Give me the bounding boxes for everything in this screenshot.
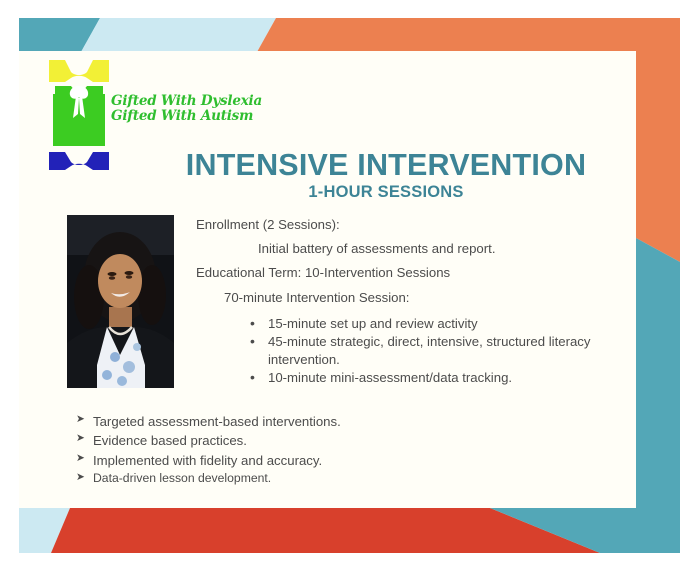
logo-line-2: Gifted With Autism — [111, 109, 261, 124]
detail-line-enrollment: Enrollment (2 Sessions): — [196, 218, 606, 231]
logo-wordmark: Gifted With Dyslexia Gifted With Autism — [111, 94, 261, 123]
page-subtitle: 1-HOUR SESSIONS — [176, 183, 596, 202]
page-title: INTENSIVE INTERVENTION — [176, 148, 596, 183]
slide: Gifted With Dyslexia Gifted With Autism … — [0, 0, 698, 571]
list-item: Evidence based practices. — [76, 431, 341, 450]
detail-line-initial-battery: Initial battery of assessments and repor… — [196, 242, 606, 255]
presenter-photo — [67, 215, 174, 388]
gift-box-icon — [43, 56, 115, 174]
features-list: Targeted assessment-based interventions.… — [76, 412, 341, 488]
presenter-photo-image — [67, 215, 174, 388]
list-item: 15-minute set up and review activity — [248, 315, 606, 332]
list-item: 10-minute mini-assessment/data tracking. — [248, 369, 606, 386]
frame-right-orange-shape — [636, 18, 680, 262]
list-item: Data-driven lesson development. — [76, 470, 341, 488]
list-item: Implemented with fidelity and accuracy. — [76, 451, 341, 470]
detail-line-educational-term: Educational Term: 10-Intervention Sessio… — [196, 266, 606, 279]
frame-top-orange-shape — [257, 18, 680, 52]
list-item: Targeted assessment-based interventions. — [76, 412, 341, 431]
detail-line-session-length: 70-minute Intervention Session: — [196, 291, 606, 304]
session-details: Enrollment (2 Sessions): Initial battery… — [196, 218, 606, 388]
frame-right-teal-shape — [636, 238, 680, 553]
session-breakdown-list: 15-minute set up and review activity 45-… — [196, 315, 606, 387]
logo-line-1: Gifted With Dyslexia — [111, 94, 261, 109]
list-item: 45-minute strategic, direct, intensive, … — [248, 333, 606, 368]
frame-top-lightblue-shape — [81, 18, 276, 52]
